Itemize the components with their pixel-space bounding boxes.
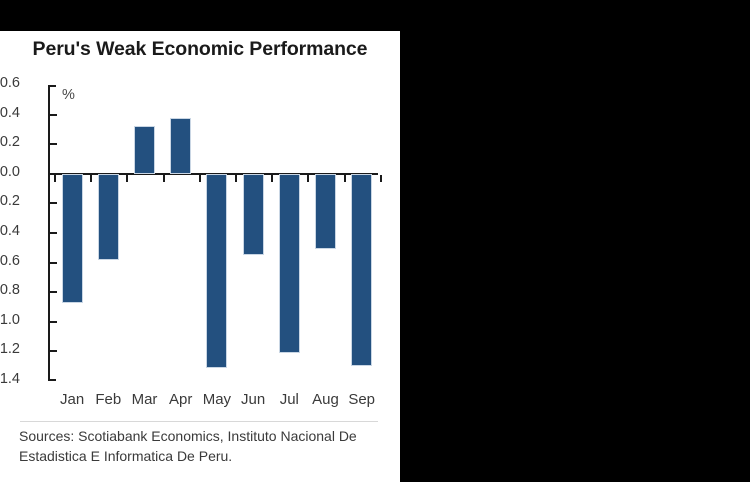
x-axis-tick xyxy=(126,175,128,182)
y-axis-tick-label: -1.0 xyxy=(0,312,20,328)
x-axis-tick xyxy=(54,175,56,182)
page-title: Peru's Weak Economic Performance xyxy=(0,38,400,61)
bar xyxy=(279,174,300,353)
y-axis-tick-label: -0.4 xyxy=(0,223,20,239)
y-axis-tick xyxy=(50,262,57,264)
y-axis-tick xyxy=(50,232,57,234)
y-axis-tick xyxy=(50,321,57,323)
y-axis-tick-label: -0.8 xyxy=(0,282,20,298)
y-axis-tick-label: 0.0 xyxy=(0,164,20,180)
y-axis-unit-label: % xyxy=(62,87,75,103)
y-axis-bottom-cap xyxy=(48,379,56,381)
x-axis-tick-label: Sep xyxy=(338,391,386,408)
divider xyxy=(20,421,378,422)
y-axis-tick xyxy=(50,202,57,204)
x-axis-tick xyxy=(235,175,237,182)
bar xyxy=(98,174,119,260)
y-axis-tick-label: 0.4 xyxy=(0,105,20,121)
y-axis-tick-label: -0.2 xyxy=(0,193,20,209)
y-axis-tick xyxy=(50,350,57,352)
y-axis-tick-label: -1.2 xyxy=(0,341,20,357)
y-axis-tick-label: 0.6 xyxy=(0,75,20,91)
bar xyxy=(206,174,227,368)
source-note: Sources: Scotiabank Economics, Instituto… xyxy=(19,427,385,466)
y-axis-tick xyxy=(50,143,57,145)
bar xyxy=(243,174,264,255)
x-axis-tick xyxy=(344,175,346,182)
x-axis-tick xyxy=(271,175,273,182)
x-axis-tick xyxy=(199,175,201,182)
x-axis-tick xyxy=(380,175,382,182)
y-axis-tick xyxy=(50,114,57,116)
bar xyxy=(315,174,336,249)
bar xyxy=(62,174,83,303)
chart-card: Peru's Weak Economic Performance % 0.60.… xyxy=(0,31,400,482)
x-axis-tick xyxy=(307,175,309,182)
y-axis-tick-label: -1.4 xyxy=(0,371,20,387)
bar xyxy=(134,126,155,173)
x-axis-tick xyxy=(90,175,92,182)
bar xyxy=(351,174,372,366)
y-axis-tick-label: -0.6 xyxy=(0,253,20,269)
y-axis-tick xyxy=(50,291,57,293)
bar xyxy=(170,118,191,174)
x-axis-tick xyxy=(163,175,165,182)
y-axis-tick-label: 0.2 xyxy=(0,134,20,150)
y-axis-top-cap xyxy=(48,85,56,87)
plot-area: % 0.60.40.20.0-0.2-0.4-0.6-0.8-1.0-1.2-1… xyxy=(48,85,378,381)
